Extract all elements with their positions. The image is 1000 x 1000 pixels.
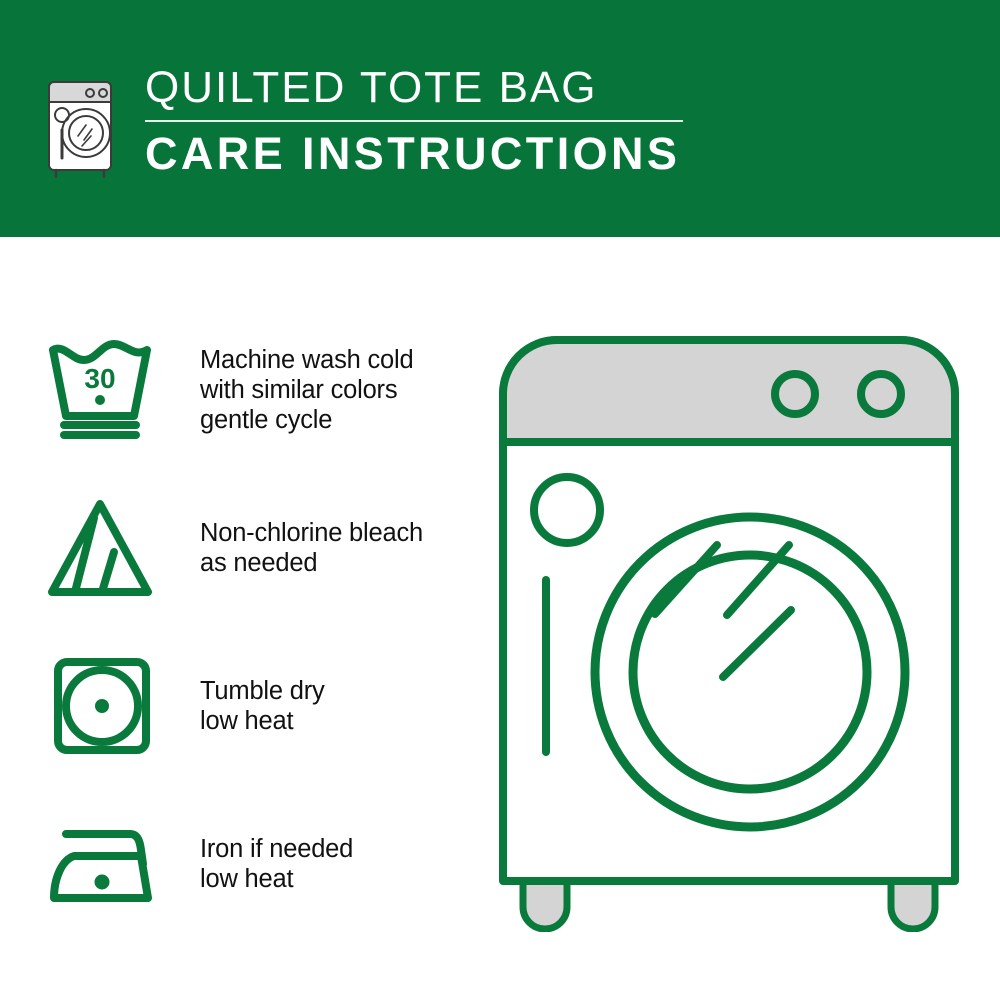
wash-temperature-label: 30: [84, 363, 115, 394]
care-text-tumble-dry: Tumble dry low heat: [200, 676, 325, 736]
care-text-iron: Iron if needed low heat: [200, 834, 353, 894]
care-line: Tumble dry: [200, 676, 325, 706]
care-line: Machine wash cold: [200, 345, 413, 375]
front-load-washing-machine-illustration: [495, 332, 970, 932]
header-titles: QUILTED TOTE BAG CARE INSTRUCTIONS: [145, 62, 683, 181]
care-row-iron: Iron if needed low heat: [44, 804, 494, 924]
care-line: Non-chlorine bleach: [200, 518, 423, 548]
tumble-dry-icon: [44, 654, 160, 758]
care-line: Iron if needed: [200, 834, 353, 864]
care-row-tumble-dry: Tumble dry low heat: [44, 646, 494, 766]
care-text-bleach: Non-chlorine bleach as needed: [200, 518, 423, 578]
care-line: low heat: [200, 706, 325, 736]
washing-machine-icon: [44, 70, 118, 180]
bleach-triangle-icon: [44, 496, 160, 600]
page-title: CARE INSTRUCTIONS: [145, 127, 683, 181]
product-title: QUILTED TOTE BAG: [145, 62, 683, 114]
control-panel: [503, 340, 955, 442]
iron-icon: [44, 812, 160, 916]
care-line: as needed: [200, 548, 423, 578]
care-instructions-infographic: QUILTED TOTE BAG CARE INSTRUCTIONS 3: [0, 0, 1000, 1000]
care-text-wash: Machine wash cold with similar colors ge…: [200, 345, 413, 435]
care-line: gentle cycle: [200, 405, 413, 435]
wash-tub-icon: 30: [44, 338, 160, 442]
care-instruction-list: 30 Machine wash cold with similar colors…: [44, 330, 494, 924]
header-content: QUILTED TOTE BAG CARE INSTRUCTIONS: [44, 62, 744, 187]
care-row-bleach: Non-chlorine bleach as needed: [44, 488, 494, 608]
care-line: with similar colors: [200, 375, 413, 405]
header-banner: QUILTED TOTE BAG CARE INSTRUCTIONS: [0, 0, 1000, 237]
title-divider: [145, 120, 683, 122]
care-line: low heat: [200, 864, 353, 894]
care-row-wash: 30 Machine wash cold with similar colors…: [44, 330, 494, 450]
